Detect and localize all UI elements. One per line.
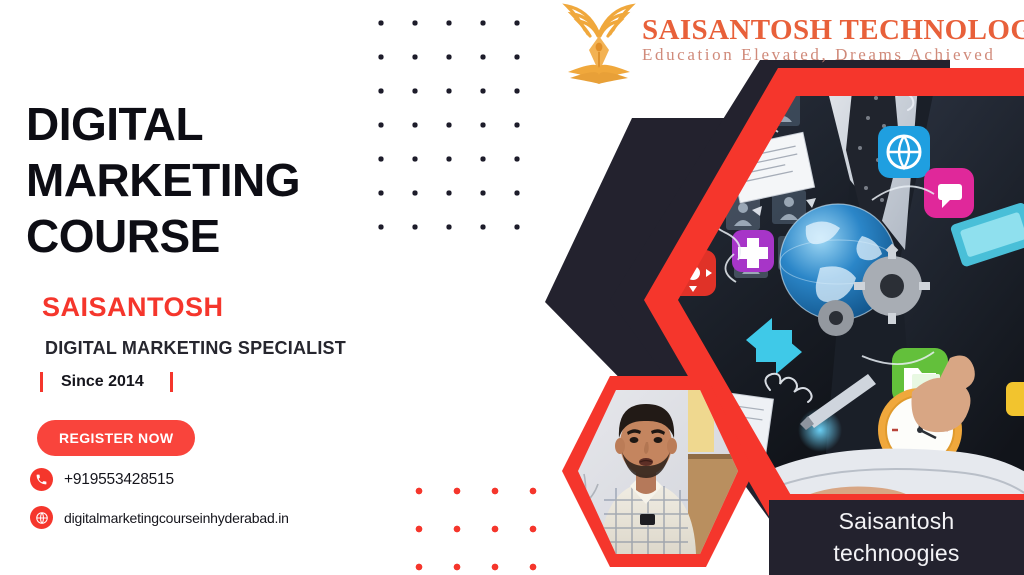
footer-red-edge [769, 494, 1024, 500]
poster-canvas: Saisantosh technoogies SAISANTOSH TECHNO… [0, 0, 1024, 575]
company-logo: SAISANTOSH TECHNOLOGIES Education Elevat… [560, 2, 1024, 84]
logo-tagline: Education Elevated, Dreams Achieved [642, 44, 1024, 66]
dark-dot-grid [362, 0, 542, 250]
phone-number: +919553428515 [64, 471, 174, 489]
logo-title: SAISANTOSH TECHNOLOGIES [642, 14, 1024, 46]
winged-pen-book-emblem [560, 2, 638, 84]
instructor-portrait [560, 368, 770, 575]
contact-phone-row[interactable]: +919553428515 [30, 468, 174, 491]
register-now-button[interactable]: REGISTER NOW [37, 420, 195, 456]
globe-icon [30, 506, 53, 529]
since-label: Since 2014 [43, 373, 170, 391]
brand-role: DIGITAL MARKETING SPECIALIST [45, 338, 346, 359]
since-row: Since 2014 [40, 372, 173, 392]
footer-brand-text: Saisantosh technoogies [769, 505, 1024, 569]
headline-line-1: DIGITAL [26, 96, 386, 152]
footer-line-1: Saisantosh [769, 505, 1024, 537]
tick-mark-right [170, 372, 173, 392]
contact-website-row[interactable]: digitalmarketingcourseinhyderabad.in [30, 506, 289, 529]
page-title: DIGITAL MARKETING COURSE [26, 96, 386, 264]
headline-line-2: MARKETING [26, 152, 386, 208]
headline-line-3: COURSE [26, 208, 386, 264]
phone-icon [30, 468, 53, 491]
brand-name: SAISANTOSH [42, 292, 224, 323]
website-url: digitalmarketingcourseinhyderabad.in [64, 510, 289, 526]
footer-line-2: technoogies [769, 537, 1024, 569]
logo-wordmark: SAISANTOSH TECHNOLOGIES Education Elevat… [642, 14, 1024, 66]
